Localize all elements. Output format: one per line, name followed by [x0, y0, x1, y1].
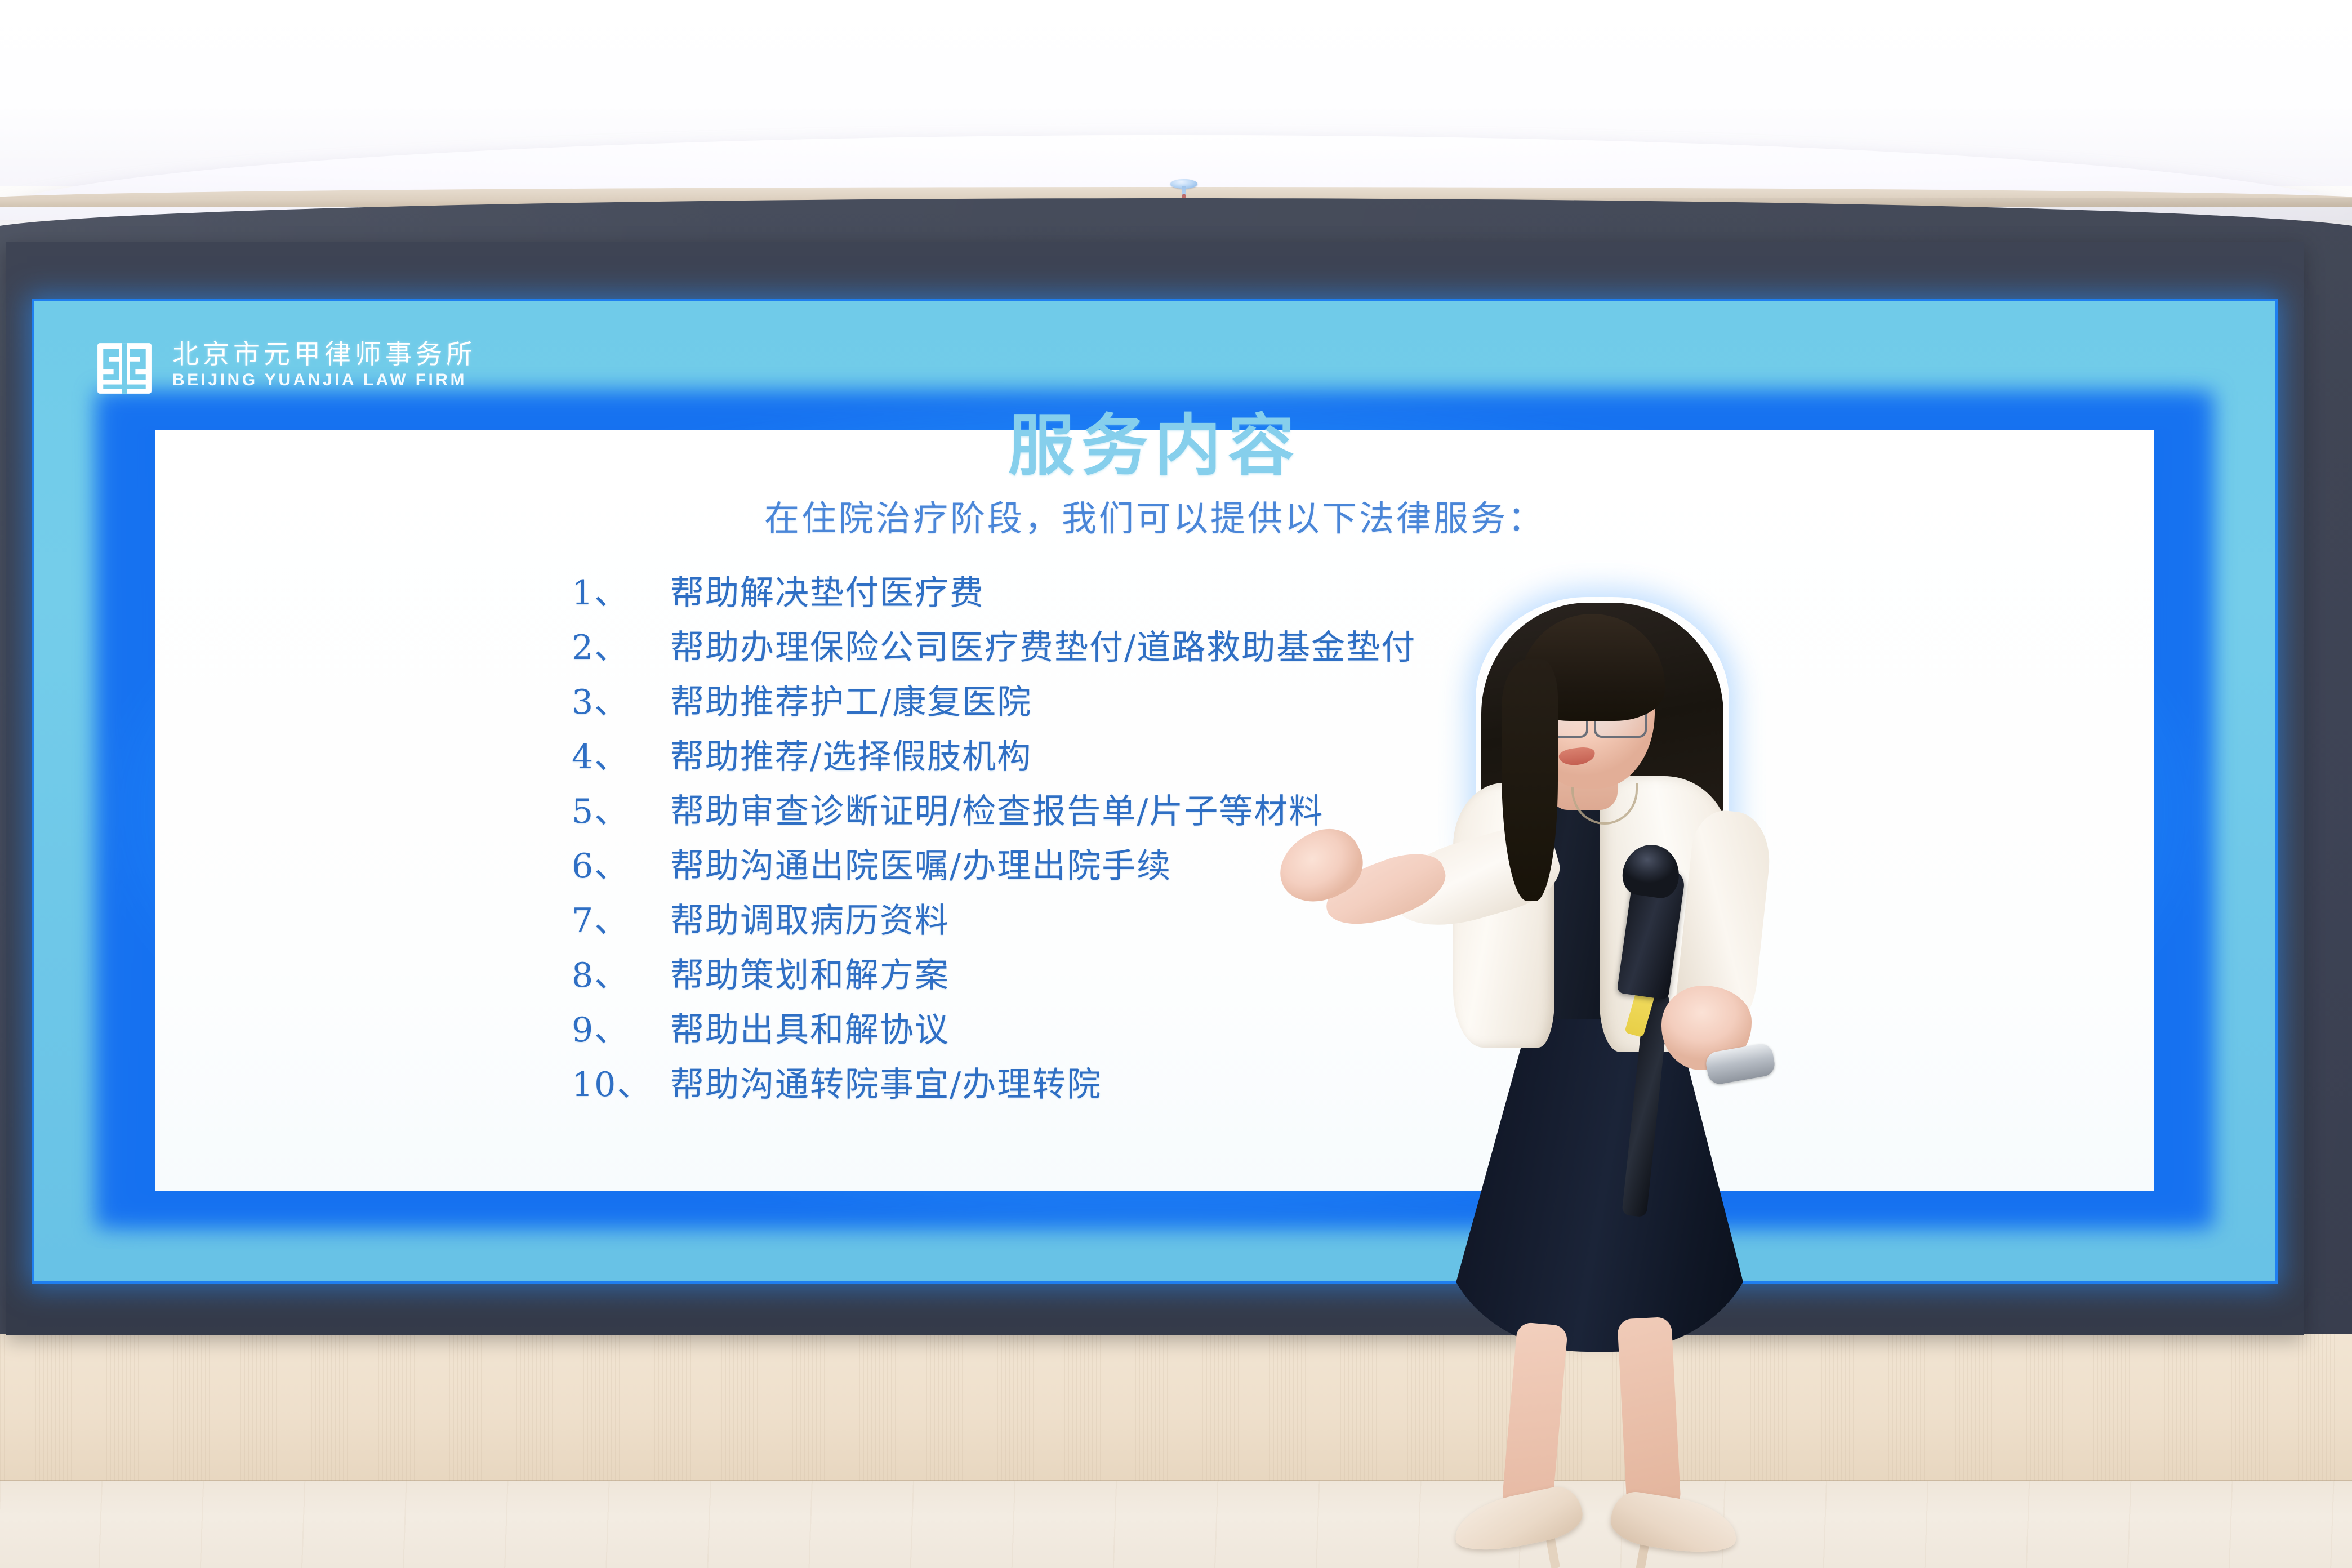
list-item-number: 3、	[572, 675, 670, 730]
list-item-text: 帮助出具和解协议	[670, 1003, 950, 1058]
wall-wainscot-panel	[0, 1334, 2352, 1486]
presenter	[1369, 597, 1853, 1568]
list-item-text: 帮助沟通出院医嘱/办理出院手续	[670, 839, 1171, 894]
led-screen-bezel: 北京市元甲律师事务所 BEIJING YUANJIA LAW FIRM 服务内容…	[6, 242, 2304, 1335]
firm-name-en: BEIJING YUANJIA LAW FIRM	[172, 371, 476, 389]
list-item-number: 9、	[572, 1003, 670, 1058]
presenter-right-shoe	[1607, 1489, 1741, 1560]
slide-title: 服务内容	[34, 391, 2275, 488]
list-item-number: 4、	[572, 730, 670, 785]
list-item-text: 帮助办理保险公司医疗费垫付/道路救助基金垫付	[670, 621, 1416, 675]
list-item-number: 8、	[572, 948, 670, 1003]
firm-logo-text: 北京市元甲律师事务所 BEIJING YUANJIA LAW FIRM	[172, 340, 476, 389]
list-item-text: 帮助调取病历资料	[670, 894, 950, 948]
list-item-number: 1、	[572, 566, 670, 621]
list-item-number: 10、	[572, 1058, 670, 1112]
list-item-text: 帮助策划和解方案	[670, 948, 950, 1003]
list-item-text: 帮助解决垫付医疗费	[670, 566, 985, 621]
presentation-slide[interactable]: 北京市元甲律师事务所 BEIJING YUANJIA LAW FIRM 服务内容…	[34, 301, 2275, 1281]
presenter-left-leg	[1502, 1322, 1568, 1512]
list-item-number: 2、	[572, 621, 670, 675]
list-item-text: 帮助推荐/选择假肢机构	[670, 730, 1032, 785]
list-item-text: 帮助推荐护工/康复医院	[670, 675, 1032, 730]
firm-name-cn: 北京市元甲律师事务所	[172, 341, 476, 369]
floor	[0, 1481, 2352, 1568]
screenshot-root: 北京市元甲律师事务所 BEIJING YUANJIA LAW FIRM 服务内容…	[0, 0, 2352, 1568]
list-item-number: 5、	[572, 785, 670, 839]
list-item-text: 帮助沟通转院事宜/办理转院	[670, 1058, 1102, 1112]
presenter-hair-side	[1502, 659, 1558, 901]
firm-logo: 北京市元甲律师事务所 BEIJING YUANJIA LAW FIRM	[96, 340, 476, 397]
yuanjia-seal-mark-icon	[96, 340, 153, 397]
presenter-right-leg	[1617, 1317, 1681, 1511]
list-item-text: 帮助审查诊断证明/检查报告单/片子等材料	[670, 785, 1324, 839]
slide-subtitle: 在住院治疗阶段，我们可以提供以下法律服务：	[34, 490, 2275, 541]
list-item-number: 7、	[572, 894, 670, 948]
list-item-number: 6、	[572, 839, 670, 894]
